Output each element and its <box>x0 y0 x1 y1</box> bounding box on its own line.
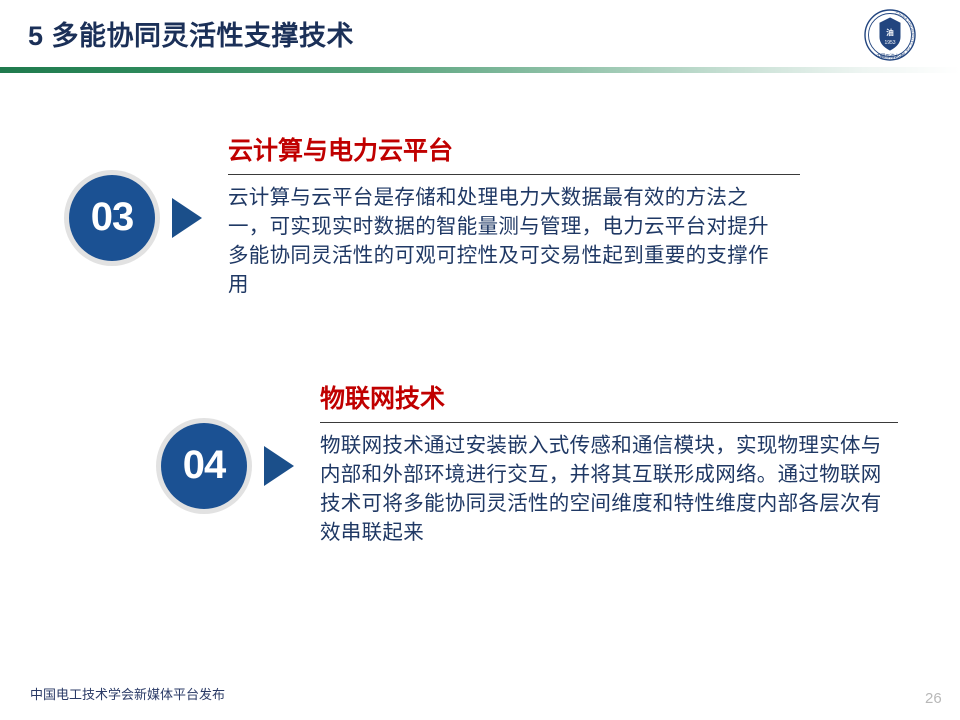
badge-circle: 04 <box>161 423 247 509</box>
section-body-text: 物联网技术通过安装嵌入式传感和通信模块，实现物理实体与内部和外部环境进行交互，并… <box>320 431 900 547</box>
number-badge-04: 04 <box>152 414 256 518</box>
badge-number: 04 <box>183 445 226 487</box>
section-heading: 云计算与电力云平台 <box>228 138 800 166</box>
section-body-text: 云计算与云平台是存储和处理电力大数据最有效的方法之一，可实现实时数据的智能量测与… <box>228 183 773 299</box>
seal-icon: 油 1953 CHINA UNIVERSITY OF PETROLEUM 中国石… <box>864 9 916 61</box>
text-column-03: 云计算与电力云平台 云计算与云平台是存储和处理电力大数据最有效的方法之一，可实现… <box>228 138 800 299</box>
svg-text:油: 油 <box>886 27 894 37</box>
title-divider-line <box>0 67 960 73</box>
text-column-04: 物联网技术 物联网技术通过安装嵌入式传感和通信模块，实现物理实体与内部和外部环境… <box>320 386 900 547</box>
footer-source-text: 中国电工技术学会新媒体平台发布 <box>30 684 225 703</box>
svg-text:中国石油大学: 中国石油大学 <box>876 53 904 60</box>
heading-underline <box>320 422 898 423</box>
number-badge-03: 03 <box>60 166 164 270</box>
page-title: 5 多能协同灵活性支撑技术 <box>28 14 354 53</box>
slide-canvas: 5 多能协同灵活性支撑技术 油 1953 CHINA UNIVERSITY OF… <box>0 0 960 720</box>
triangle-right-icon <box>264 446 294 486</box>
heading-underline <box>228 174 800 175</box>
triangle-right-icon <box>172 198 202 238</box>
section-heading: 物联网技术 <box>320 386 900 414</box>
svg-text:1953: 1953 <box>884 40 895 46</box>
badge-number: 03 <box>91 197 134 239</box>
page-number: 26 <box>925 690 942 707</box>
badge-circle: 03 <box>69 175 155 261</box>
university-seal-logo: 油 1953 CHINA UNIVERSITY OF PETROLEUM 中国石… <box>864 9 916 61</box>
